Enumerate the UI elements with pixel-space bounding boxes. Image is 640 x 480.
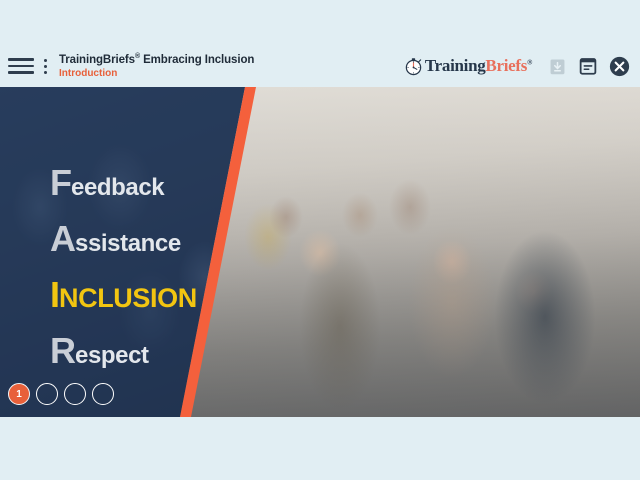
brand-trademark-icon: ® [527,58,532,66]
fair-word: NCLUSION [59,283,197,313]
slide-stage: Feedback Assistance INCLUSION Respect 1 [0,87,640,417]
stopwatch-icon [404,57,423,76]
download-box-icon [549,57,566,76]
fair-acronym-list: Feedback Assistance INCLUSION Respect [50,165,197,369]
download-resources-button[interactable] [546,55,568,77]
pagination-dot-1[interactable]: 1 [8,383,30,405]
notes-document-icon [579,56,597,76]
brand-wordmark: TrainingBriefs® [425,56,532,76]
title-block: TrainingBriefs® Embracing Inclusion Intr… [59,52,404,80]
kebab-dot [44,59,47,62]
fair-word: eedback [71,174,164,201]
hamburger-menu-icon[interactable] [8,56,34,76]
fair-initial: F [50,162,71,203]
kebab-dot [44,65,47,68]
fair-initial: R [50,330,75,371]
kebab-menu-icon[interactable] [38,56,52,76]
course-title-suffix: Embracing Inclusion [140,54,254,66]
brand-word-briefs: Briefs [485,56,527,75]
fair-item-feedback: Feedback [50,165,197,201]
brand-word-training: Training [425,56,486,75]
slide-pagination: 1 [8,383,114,405]
fair-initial: I [50,274,59,315]
pagination-dot-4[interactable] [92,383,114,405]
close-x-icon [609,56,630,77]
hamburger-line [8,71,34,74]
hamburger-line [8,58,34,61]
header-actions [546,55,630,77]
fair-initial: A [50,218,75,259]
close-button[interactable] [608,55,630,77]
pagination-dot-2[interactable] [36,383,58,405]
pagination-dot-3[interactable] [64,383,86,405]
player-header: TrainingBriefs® Embracing Inclusion Intr… [0,45,640,87]
course-title-brand: TrainingBriefs [59,54,135,66]
course-title: TrainingBriefs® Embracing Inclusion [59,53,404,67]
fair-word: espect [75,342,149,369]
fair-item-respect: Respect [50,333,197,369]
fair-item-inclusion: INCLUSION [50,277,197,313]
course-player-window: TrainingBriefs® Embracing Inclusion Intr… [0,0,640,480]
fair-item-assistance: Assistance [50,221,197,257]
fair-word: ssistance [75,230,181,257]
notes-button[interactable] [577,55,599,77]
trainingbriefs-logo[interactable]: TrainingBriefs® [404,56,532,76]
lesson-title: Introduction [59,68,404,80]
hamburger-line [8,65,34,68]
kebab-dot [44,71,47,74]
